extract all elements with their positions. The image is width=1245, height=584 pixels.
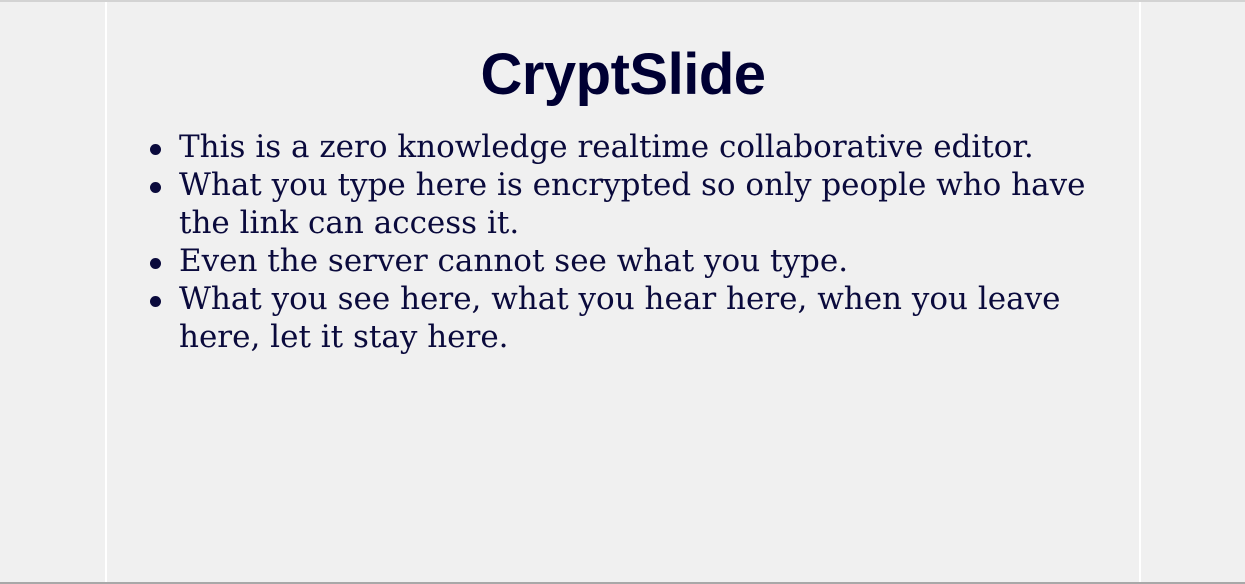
list-item[interactable]: Even the server cannot see what you type… (107, 242, 1139, 280)
bullet-text[interactable]: What you type here is encrypted so only … (179, 166, 1109, 242)
bullet-dot-icon (150, 182, 161, 193)
bullet-text[interactable]: Even the server cannot see what you type… (179, 242, 1109, 280)
list-item[interactable]: What you type here is encrypted so only … (107, 166, 1139, 242)
presentation-page: CryptSlide This is a zero knowledge real… (0, 0, 1245, 584)
slide-canvas[interactable]: CryptSlide This is a zero knowledge real… (105, 2, 1141, 582)
bullet-text[interactable]: What you see here, what you hear here, w… (179, 280, 1109, 356)
list-item[interactable]: This is a zero knowledge realtime collab… (107, 128, 1139, 166)
bullet-text[interactable]: This is a zero knowledge realtime collab… (179, 128, 1109, 166)
slide-title[interactable]: CryptSlide (107, 2, 1139, 104)
slide-bullet-list[interactable]: This is a zero knowledge realtime collab… (107, 128, 1139, 356)
list-item[interactable]: What you see here, what you hear here, w… (107, 280, 1139, 356)
bullet-dot-icon (150, 296, 161, 307)
bullet-dot-icon (150, 258, 161, 269)
bullet-dot-icon (150, 144, 161, 155)
